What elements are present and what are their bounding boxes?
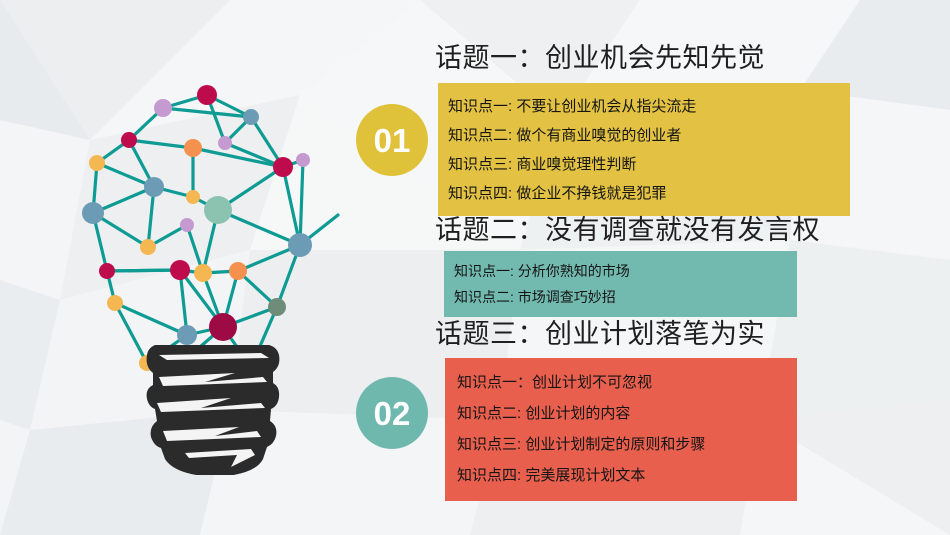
knowledge-point: 知识点一：创业计划不可忽视 <box>457 367 797 398</box>
section-title-3: 话题三：创业计划落笔为实 <box>435 321 765 348</box>
slide-canvas: 01 话题一：创业机会先知先觉 知识点一: 不要让创业机会从指尖流走 知识点二:… <box>0 0 950 535</box>
section-title-2: 话题二：没有调查就没有发言权 <box>435 217 820 244</box>
knowledge-point: 知识点三: 商业嗅觉理性判断 <box>448 150 850 179</box>
section-title-1: 话题一：创业机会先知先觉 <box>435 45 765 72</box>
knowledge-point: 知识点四: 做企业不挣钱就是犯罪 <box>448 179 850 208</box>
section-points-box-3: 知识点一：创业计划不可忽视 知识点二: 创业计划的内容 知识点三: 创业计划制定… <box>445 358 797 501</box>
section-points-box-1: 知识点一: 不要让创业机会从指尖流走 知识点二: 做个有商业嗅觉的创业者 知识点… <box>438 83 850 216</box>
section-points-box-2: 知识点一: 分析你熟知的市场 知识点二: 市场调查巧妙招 <box>444 251 797 317</box>
lightbulb-network-icon <box>55 55 375 475</box>
knowledge-point: 知识点二: 市场调查巧妙招 <box>454 284 797 310</box>
knowledge-point: 知识点二: 做个有商业嗅觉的创业者 <box>448 121 850 150</box>
knowledge-point: 知识点二: 创业计划的内容 <box>457 398 797 429</box>
knowledge-point: 知识点四: 完美展现计划文本 <box>457 460 797 491</box>
section-badge-02[interactable]: 02 <box>356 377 428 449</box>
knowledge-point: 知识点一: 分析你熟知的市场 <box>454 258 797 284</box>
knowledge-point: 知识点三: 创业计划制定的原则和步骤 <box>457 429 797 460</box>
knowledge-point: 知识点一: 不要让创业机会从指尖流走 <box>448 92 850 121</box>
section-badge-01[interactable]: 01 <box>356 104 428 176</box>
